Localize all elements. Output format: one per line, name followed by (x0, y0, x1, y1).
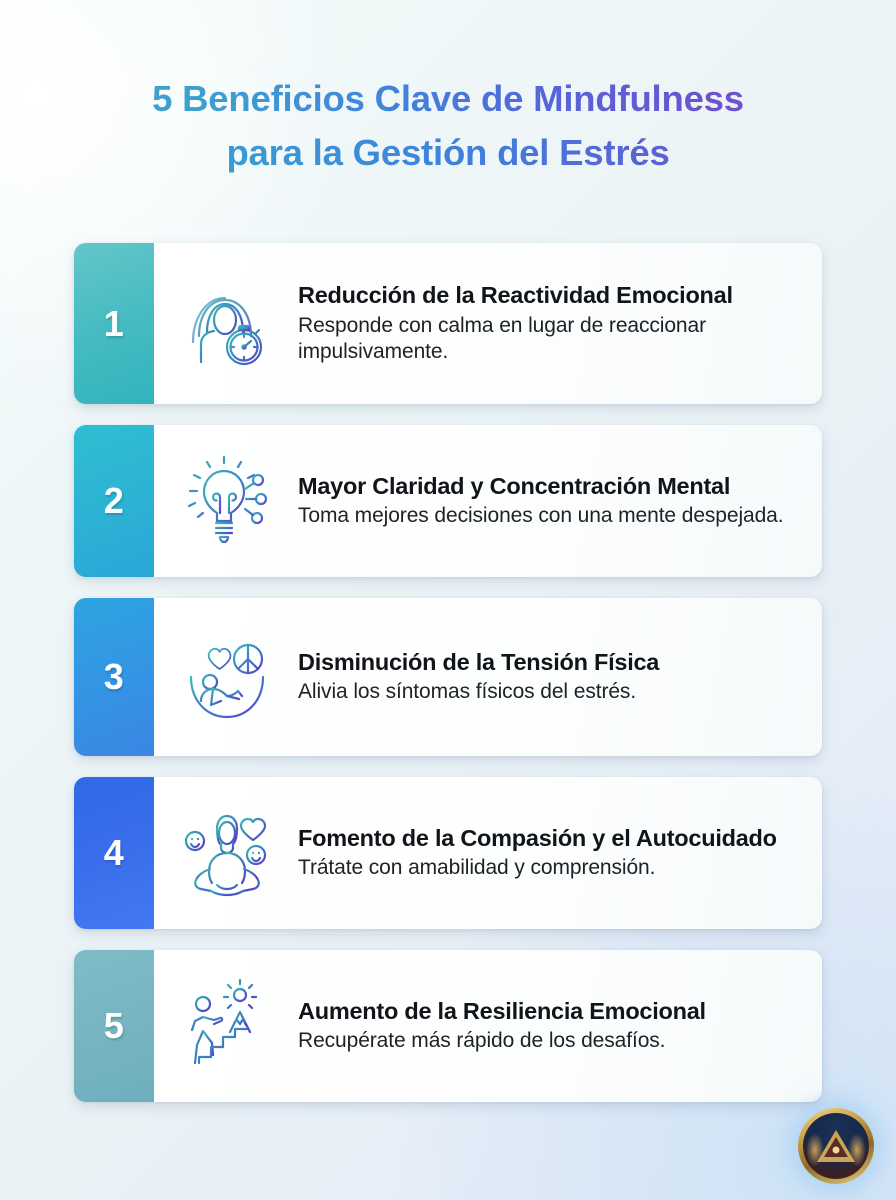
benefit-description-1: Responde con calma en lugar de reacciona… (298, 313, 796, 366)
benefit-number-5: 5 (104, 1008, 125, 1044)
benefit-text-2: Mayor Claridad y Concentración Mental To… (286, 472, 800, 530)
benefit-body-2: Mayor Claridad y Concentración Mental To… (154, 425, 822, 577)
lightbulb-network-icon (168, 453, 286, 549)
benefit-number-bar-4: 4 (74, 777, 154, 929)
benefit-card-2[interactable]: 2 (74, 425, 822, 577)
benefit-body-3: Disminución de la Tensión Física Alivia … (154, 598, 822, 756)
benefit-number-3: 3 (104, 659, 125, 695)
climbing-stairs-mountain-icon (168, 977, 286, 1075)
benefit-text-5: Aumento de la Resiliencia Emocional Recu… (286, 997, 800, 1055)
benefit-number-bar-1: 1 (74, 243, 154, 404)
benefit-body-5: Aumento de la Resiliencia Emocional Recu… (154, 950, 822, 1102)
hammock-relax-icon (168, 629, 286, 725)
benefit-number-2: 2 (104, 483, 125, 519)
benefit-number-bar-3: 3 (74, 598, 154, 756)
benefit-description-3: Alivia los síntomas físicos del estrés. (298, 679, 796, 705)
benefit-body-4: Fomento de la Compasión y el Autocuidado… (154, 777, 822, 929)
benefit-card-1[interactable]: 1 (74, 243, 822, 404)
benefit-title-5: Aumento de la Resiliencia Emocional (298, 997, 796, 1025)
benefit-title-3: Disminución de la Tensión Física (298, 648, 796, 676)
benefits-list: 1 (74, 243, 822, 1123)
benefit-number-bar-2: 2 (74, 425, 154, 577)
page-title-line-2: para la Gestión del Estrés (34, 126, 862, 180)
meditation-lotus-icon (168, 803, 286, 903)
benefit-title-2: Mayor Claridad y Concentración Mental (298, 472, 796, 500)
page-title-line-1: 5 Beneficios Clave de Mindfulness (34, 72, 862, 126)
benefit-description-4: Trátate con amabilidad y comprensión. (298, 855, 796, 881)
benefit-body-1: Reducción de la Reactividad Emocional Re… (154, 243, 822, 404)
person-with-stopwatch-icon (168, 276, 286, 372)
benefit-text-4: Fomento de la Compasión y el Autocuidado… (286, 824, 800, 882)
benefit-title-1: Reducción de la Reactividad Emocional (298, 281, 796, 309)
badge-center-dot-icon (833, 1146, 840, 1153)
brand-emblem-badge[interactable] (798, 1108, 874, 1184)
benefit-number-1: 1 (104, 306, 125, 342)
benefit-card-5[interactable]: 5 (74, 950, 822, 1102)
page-title: 5 Beneficios Clave de Mindfulness para l… (0, 72, 896, 179)
benefit-card-3[interactable]: 3 (74, 598, 822, 756)
badge-inner-face (803, 1113, 869, 1179)
benefit-card-4[interactable]: 4 (74, 777, 822, 929)
benefit-text-3: Disminución de la Tensión Física Alivia … (286, 648, 800, 706)
benefit-title-4: Fomento de la Compasión y el Autocuidado (298, 824, 796, 852)
benefit-description-2: Toma mejores decisiones con una mente de… (298, 503, 796, 529)
benefit-number-bar-5: 5 (74, 950, 154, 1102)
benefit-number-4: 4 (104, 835, 125, 871)
benefit-description-5: Recupérate más rápido de los desafíos. (298, 1028, 796, 1054)
benefit-text-1: Reducción de la Reactividad Emocional Re… (286, 281, 800, 365)
